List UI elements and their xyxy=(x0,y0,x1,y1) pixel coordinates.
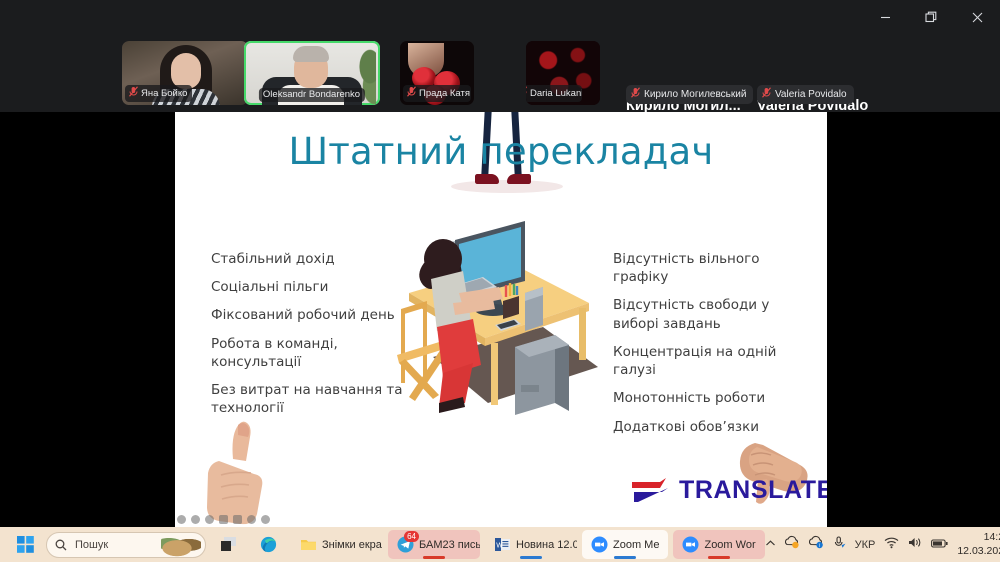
zoom-icon xyxy=(682,536,699,553)
cons-item: Відсутність вільного графіку xyxy=(613,250,809,286)
restore-button[interactable] xyxy=(908,0,954,34)
cons-item: Відсутність свободи у виборі завдань xyxy=(613,296,809,332)
options-icon[interactable] xyxy=(261,515,270,524)
participant-tile-yana[interactable]: Яна Бойко xyxy=(122,41,248,105)
window-titlebar xyxy=(0,0,1000,34)
taskbar-app-label: Zoom Me xyxy=(613,539,659,551)
edge-button[interactable] xyxy=(251,530,286,559)
telegram-button[interactable]: 64 БАМ23 пись xyxy=(388,530,480,559)
clock-time: 14:25 xyxy=(957,531,1000,544)
start-button[interactable] xyxy=(10,530,40,560)
search-placeholder: Пошук xyxy=(75,539,108,551)
system-tray: i УКР xyxy=(765,531,1000,557)
language-indicator[interactable]: УКР xyxy=(855,539,876,551)
mic-muted-icon xyxy=(762,87,771,101)
translatel-mark-icon xyxy=(630,475,670,505)
search-highlight-image xyxy=(161,535,201,557)
participant-name: Valeria Povidalo xyxy=(775,89,847,100)
windows-logo-icon xyxy=(17,536,34,553)
wifi-icon[interactable] xyxy=(884,536,899,554)
folder-icon xyxy=(300,536,317,553)
taskbar-app-label: Новина 12.0 xyxy=(516,539,577,551)
word-button[interactable]: W Новина 12.0 xyxy=(485,530,577,559)
cons-column: Відсутність вільного графіку Відсутність… xyxy=(613,250,809,446)
speaker-icon[interactable] xyxy=(908,536,922,554)
search-icon xyxy=(55,539,67,551)
pros-column: Стабільний дохід Соціальні пільги Фіксов… xyxy=(211,250,407,428)
participant-name-chip-kyrylo[interactable]: Кирило Могилевський xyxy=(626,85,753,104)
mic-muted-icon xyxy=(129,86,138,100)
svg-text:W: W xyxy=(496,543,503,550)
participant-name: Кирило Могилевський xyxy=(644,89,746,100)
pros-item: Без витрат на навчання та технології xyxy=(211,381,407,417)
slide-grid-icon[interactable] xyxy=(219,515,228,524)
minimize-button[interactable] xyxy=(862,0,908,34)
search-input[interactable]: Пошук xyxy=(46,532,206,558)
task-view-button[interactable] xyxy=(211,530,246,559)
shared-screen-area: Штатний перекладач Стабільний дохід Соці… xyxy=(0,112,1000,527)
svg-text:i: i xyxy=(818,543,819,549)
presentation-slide[interactable]: Штатний перекладач Стабільний дохід Соці… xyxy=(175,112,827,527)
participant-name: Daria Lukanicheva xyxy=(530,88,582,99)
edge-icon xyxy=(260,536,277,553)
participant-tile-oleksandr[interactable]: Oleksandr Bondarenko xyxy=(244,41,380,105)
avatar-hair xyxy=(293,46,329,62)
participant-name-chip: Oleksandr Bondarenko xyxy=(259,88,365,102)
mic-muted-icon xyxy=(526,86,527,100)
clock-date: 12.03.2026 xyxy=(957,545,1000,558)
pros-item: Стабільний дохід xyxy=(211,250,407,268)
participant-name: Oleksandr Bondarenko xyxy=(263,89,360,100)
taskbar-app-label: БАМ23 пись xyxy=(419,539,480,551)
taskbar-app-label: Zoom Wor xyxy=(704,539,755,551)
cons-item: Концентрація на одній галузі xyxy=(613,343,809,379)
participant-tile-daria[interactable]: Daria Lukanicheva xyxy=(526,41,600,105)
translatel-logo-text: TRANSLATEL xyxy=(679,476,827,505)
pointer-icon[interactable] xyxy=(177,515,186,524)
active-indicator xyxy=(423,556,445,559)
slideshow-toolbar[interactable] xyxy=(177,515,270,524)
slide-title: Штатний перекладач xyxy=(175,130,827,173)
battery-icon[interactable] xyxy=(931,536,948,554)
windows-taskbar: Пошук xyxy=(0,527,1000,562)
pros-item: Соціальні пільги xyxy=(211,278,407,296)
word-icon: W xyxy=(494,536,511,553)
zoom-icon xyxy=(591,536,608,553)
mic-muted-icon xyxy=(407,86,416,100)
cons-item: Монотонність роботи xyxy=(613,389,809,407)
participant-name: Прада Катя xyxy=(419,88,470,99)
participant-tile-prada[interactable]: Прада Катя xyxy=(400,41,474,105)
task-view-icon xyxy=(220,536,237,553)
zoom-workplace-button[interactable]: Zoom Wor xyxy=(673,530,764,559)
mic-muted-icon xyxy=(631,87,640,101)
more-icon[interactable] xyxy=(247,515,256,524)
participant-name-chip: Daria Lukanicheva xyxy=(526,85,582,102)
participant-name-chip: Прада Катя xyxy=(403,85,471,102)
video-icon[interactable] xyxy=(233,515,242,524)
pros-item: Робота в команді, консультації xyxy=(211,335,407,371)
zoom-meeting-window: Яна Бойко Oleksandr Bondarenko П xyxy=(0,0,1000,527)
chevron-up-icon[interactable] xyxy=(765,536,776,554)
participant-name-chip: Яна Бойко xyxy=(125,85,192,102)
zoom-icon[interactable] xyxy=(205,515,214,524)
taskbar-left-group: Пошук xyxy=(0,530,765,560)
participant-name: Яна Бойко xyxy=(141,88,187,99)
taskbar-app-label: Знімки екра xyxy=(322,539,382,551)
mic-icon[interactable] xyxy=(833,536,846,554)
active-indicator xyxy=(708,556,730,559)
close-button[interactable] xyxy=(954,0,1000,34)
workplace-illustration xyxy=(393,207,601,422)
zoom-meetings-button[interactable]: Zoom Me xyxy=(582,530,668,559)
onedrive-sync-icon[interactable] xyxy=(785,535,800,554)
thumbs-up-hand-image xyxy=(205,419,271,527)
clock[interactable]: 14:25 12.03.2026 xyxy=(957,531,1000,557)
file-explorer-button[interactable]: Знімки екра xyxy=(291,530,383,559)
participant-name-chip-valeria[interactable]: Valeria Povidalo xyxy=(757,85,854,104)
avatar-face xyxy=(171,53,201,89)
security-icon[interactable]: i xyxy=(809,535,824,554)
active-indicator xyxy=(520,556,542,559)
notification-badge: 64 xyxy=(404,531,419,542)
translatel-logo: TRANSLATEL xyxy=(630,475,827,505)
active-indicator xyxy=(614,556,636,559)
pros-item: Фіксований робочий день xyxy=(211,306,407,324)
participant-filmstrip: Яна Бойко Oleksandr Bondarenko П xyxy=(0,34,1000,112)
telegram-icon: 64 xyxy=(397,536,414,553)
pen-icon[interactable] xyxy=(191,515,200,524)
